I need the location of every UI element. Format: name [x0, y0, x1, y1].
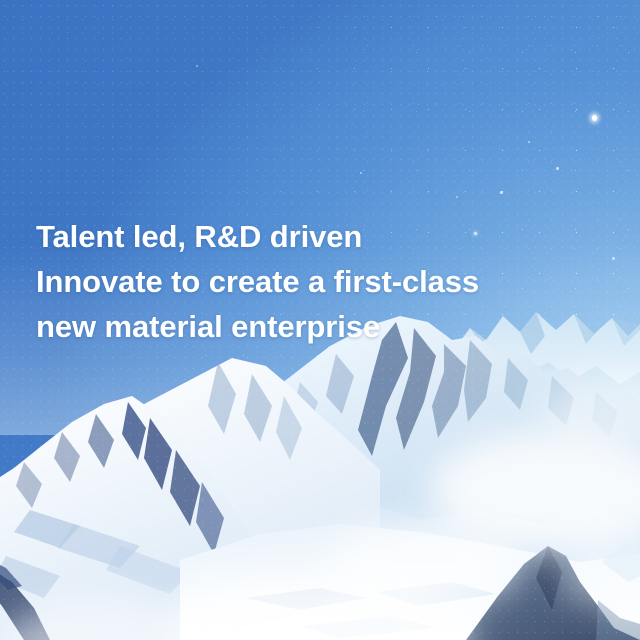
- headline-line-2: Innovate to create a first-class: [36, 259, 576, 304]
- star-icon: [528, 141, 530, 143]
- star-icon: [612, 257, 615, 260]
- star-icon: [500, 191, 503, 194]
- star-icon: [556, 167, 559, 170]
- headline-line-3: new material enterprise: [36, 304, 576, 349]
- mountain-hero-banner: Talent led, R&D driven Innovate to creat…: [0, 0, 640, 640]
- bright-star-icon: [592, 115, 597, 121]
- headline-line-1: Talent led, R&D driven: [36, 214, 576, 259]
- headline-block: Talent led, R&D driven Innovate to creat…: [36, 214, 576, 349]
- star-icon: [456, 196, 458, 198]
- star-icon: [360, 172, 362, 174]
- star-icon: [196, 65, 198, 67]
